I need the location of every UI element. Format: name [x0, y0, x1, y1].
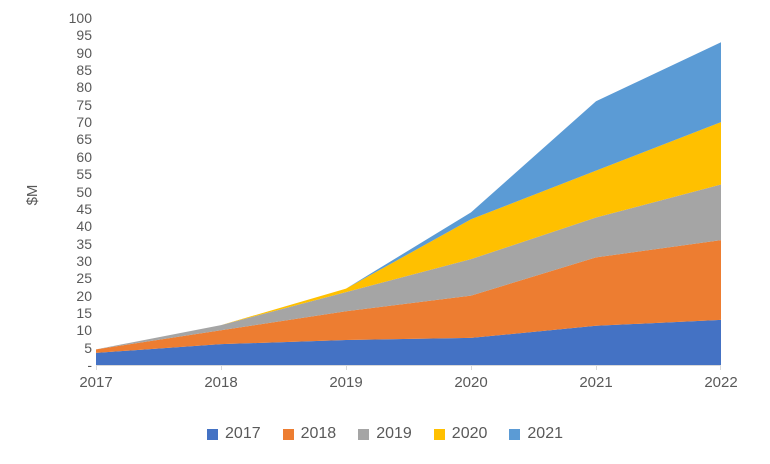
legend-label: 2020: [452, 425, 488, 443]
x-axis-tick-label: 2020: [431, 373, 511, 393]
x-axis-tick-label: 2019: [306, 373, 386, 393]
x-axis-tick-labels: 201720182019202020212022: [0, 373, 770, 397]
legend-item-2021[interactable]: 2021: [509, 425, 563, 443]
y-axis-tick-label: 80: [40, 80, 92, 94]
y-axis-tick-label: 10: [40, 323, 92, 337]
x-axis-tick-label: 2022: [681, 373, 761, 393]
y-axis-tick-label: 45: [40, 202, 92, 216]
y-axis-tick-label: 85: [40, 63, 92, 77]
legend-label: 2021: [527, 425, 563, 443]
y-axis-tick-label: 5: [40, 341, 92, 355]
x-axis-tick-label: 2017: [56, 373, 136, 393]
y-axis-tick-label: 55: [40, 167, 92, 181]
y-axis-tick-label: 50: [40, 185, 92, 199]
legend-label: 2018: [301, 425, 337, 443]
y-axis-tick-label: -: [40, 358, 92, 372]
y-axis-tick-label: 35: [40, 237, 92, 251]
x-axis-tick-label: 2018: [181, 373, 261, 393]
y-axis-tick-labels: 1009590858075706560555045403530252015105…: [40, 0, 92, 380]
y-axis-tick-label: 15: [40, 306, 92, 320]
y-axis-tick-label: 25: [40, 271, 92, 285]
x-axis-tick-label: 2021: [556, 373, 636, 393]
y-axis-tick-label: 70: [40, 115, 92, 129]
plot-area: [96, 18, 721, 365]
y-axis-tick-label: 20: [40, 289, 92, 303]
legend-item-2018[interactable]: 2018: [283, 425, 337, 443]
chart-legend: 20172018201920202021: [0, 421, 770, 447]
y-axis-tick-label: 90: [40, 46, 92, 60]
legend-swatch-icon: [434, 429, 445, 440]
legend-item-2017[interactable]: 2017: [207, 425, 261, 443]
y-axis-tick-label: 40: [40, 219, 92, 233]
y-axis-tick-label: 60: [40, 150, 92, 164]
y-axis-tick-label: 100: [40, 11, 92, 25]
x-axis-tick-mark: [221, 365, 222, 370]
legend-label: 2019: [376, 425, 412, 443]
y-axis-tick-label: 75: [40, 98, 92, 112]
y-axis-tick-label: 65: [40, 132, 92, 146]
legend-swatch-icon: [509, 429, 520, 440]
y-axis-tick-label: 95: [40, 28, 92, 42]
x-axis-tick-mark: [471, 365, 472, 370]
legend-swatch-icon: [207, 429, 218, 440]
x-axis-tick-mark: [596, 365, 597, 370]
x-axis-tick-mark: [720, 365, 721, 370]
legend-swatch-icon: [358, 429, 369, 440]
plot-svg: [96, 18, 721, 365]
legend-item-2019[interactable]: 2019: [358, 425, 412, 443]
legend-label: 2017: [225, 425, 261, 443]
x-axis-tick-mark: [346, 365, 347, 370]
legend-item-2020[interactable]: 2020: [434, 425, 488, 443]
y-axis-tick-label: 30: [40, 254, 92, 268]
legend-swatch-icon: [283, 429, 294, 440]
stacked-area-chart: $M 1009590858075706560555045403530252015…: [0, 0, 770, 464]
x-axis-line: [96, 365, 721, 366]
x-axis-tick-mark: [96, 365, 97, 370]
